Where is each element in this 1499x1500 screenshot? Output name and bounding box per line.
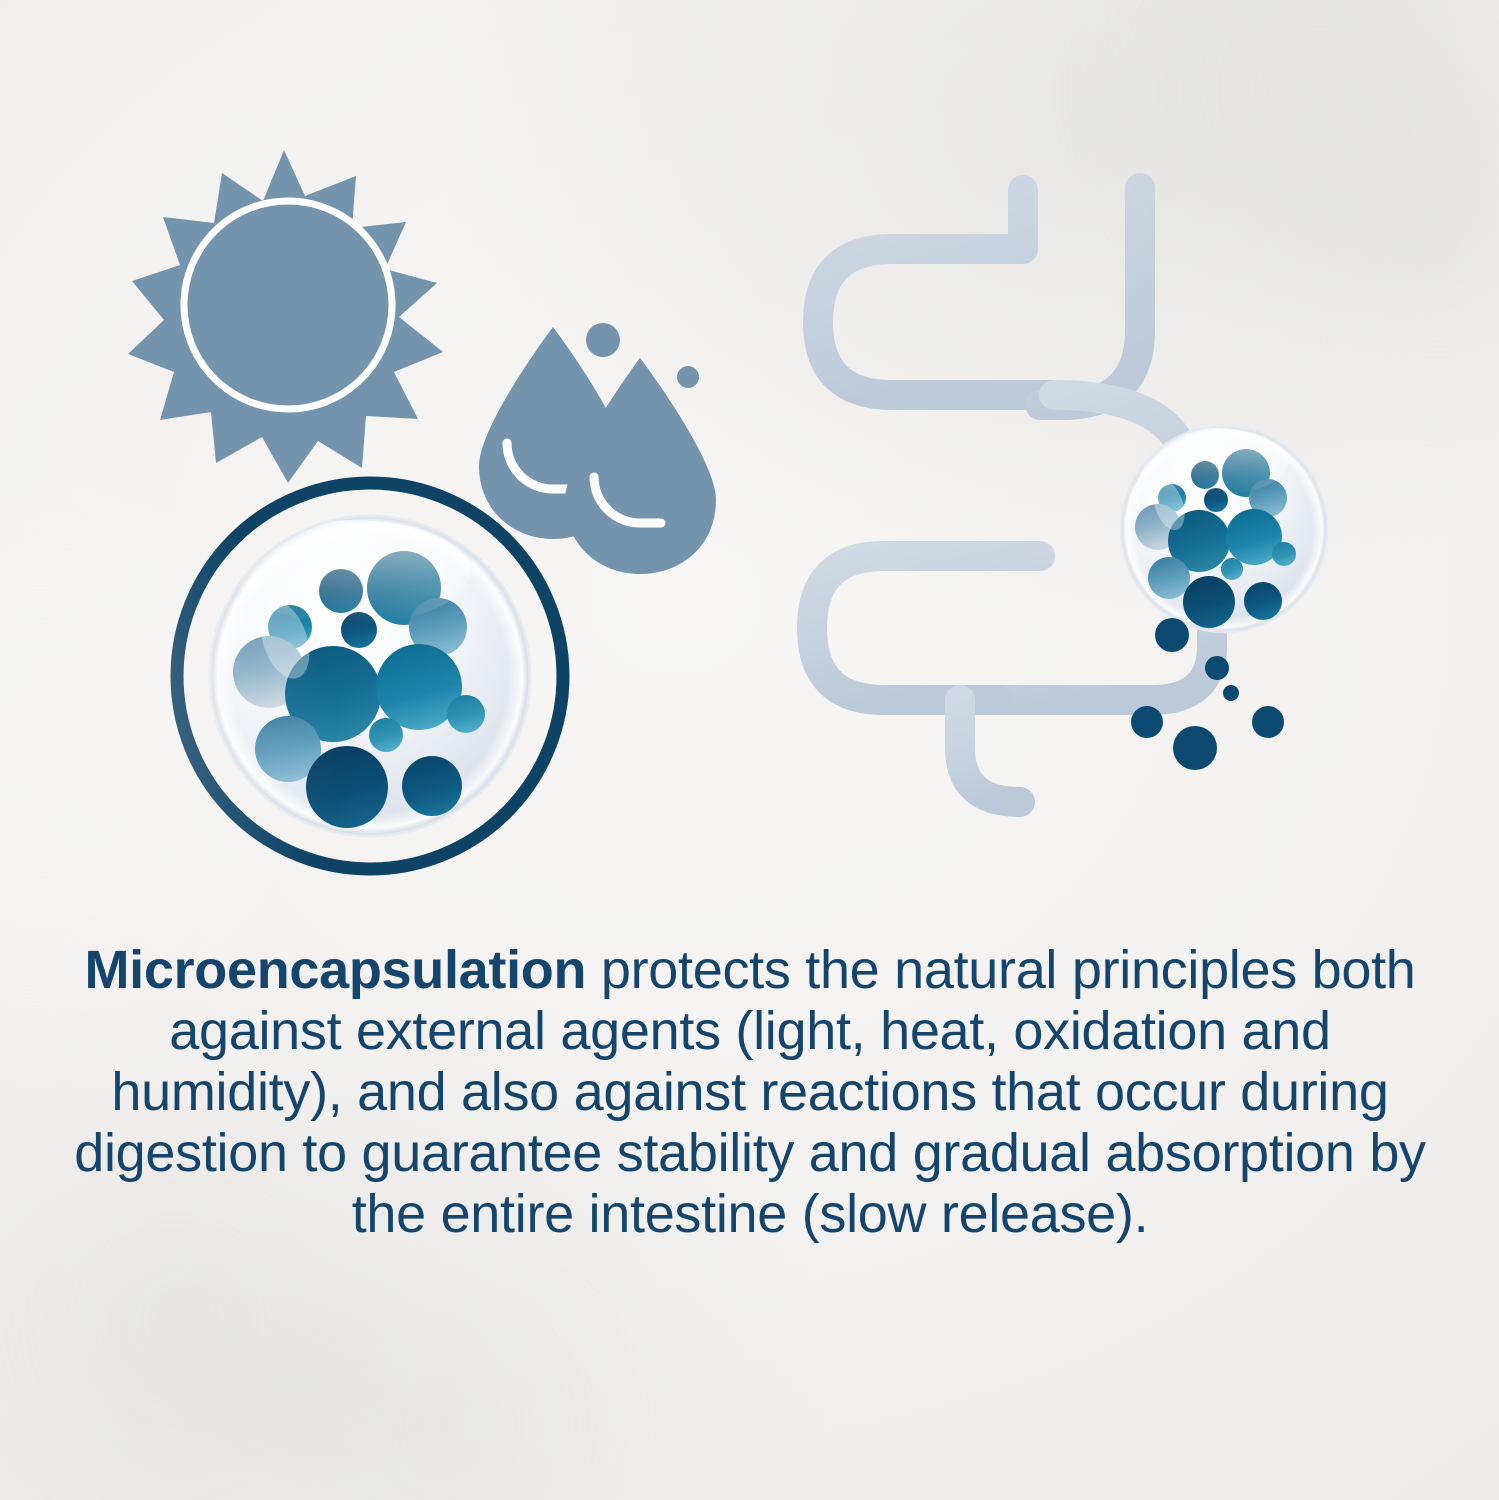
caption-bold-lead: Microencapsulation <box>84 940 586 1000</box>
microcapsule-large <box>177 483 563 869</box>
humidity-icon <box>479 323 716 574</box>
infographic-canvas: Microencapsulation protects the natural … <box>0 0 1499 1500</box>
illustration <box>0 0 1499 1500</box>
droplet-small-1 <box>586 323 620 357</box>
droplet-small-2 <box>677 366 699 388</box>
sun-icon <box>128 150 443 483</box>
microcapsule-small <box>1121 426 1327 632</box>
caption-text: Microencapsulation protects the natural … <box>60 940 1440 1245</box>
